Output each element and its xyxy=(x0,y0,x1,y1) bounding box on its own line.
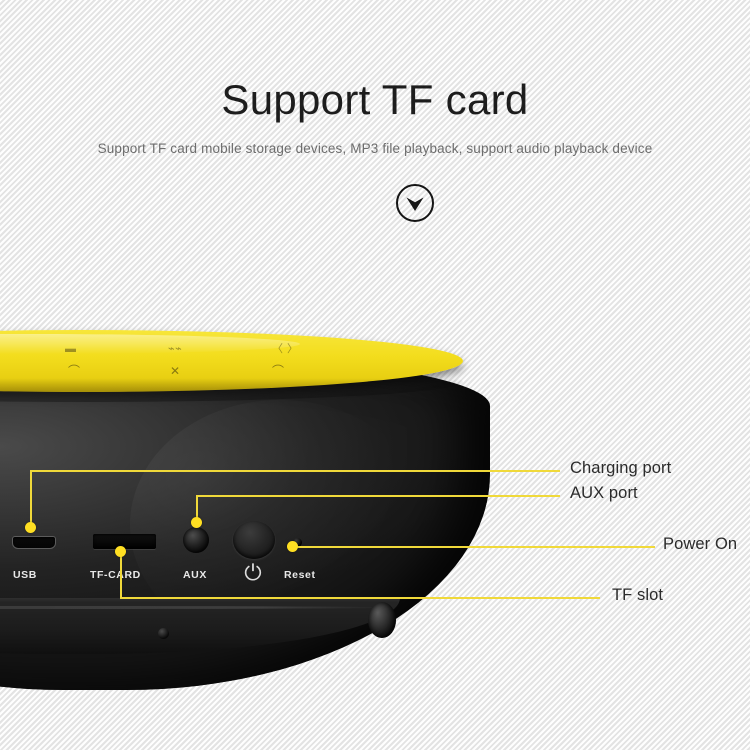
callout-line-tf-slot-horizontal xyxy=(120,597,600,599)
callout-line-power-on xyxy=(292,546,655,548)
callout-dot-power-on xyxy=(287,541,298,552)
callout-line-tf-slot-vertical xyxy=(120,556,122,598)
callout-label-aux-port: AUX port xyxy=(570,484,638,503)
callout-dot-charging-port xyxy=(25,522,36,533)
callout-label-power-on: Power On xyxy=(663,535,737,554)
callout-label-charging-port: Charging port xyxy=(570,459,671,478)
callout-dot-aux-port xyxy=(191,517,202,528)
product-feature-banner: Support TF card Support TF card mobile s… xyxy=(0,0,750,750)
callout-label-tf-slot: TF slot xyxy=(612,586,663,605)
callout-dot-tf-slot xyxy=(115,546,126,557)
callout-line-charging-port-horizontal xyxy=(30,470,560,472)
callout-layer: Charging port AUX port Power On TF slot xyxy=(0,0,750,750)
callout-line-charging-port-vertical xyxy=(30,470,32,528)
callout-line-aux-port-horizontal xyxy=(196,495,560,497)
